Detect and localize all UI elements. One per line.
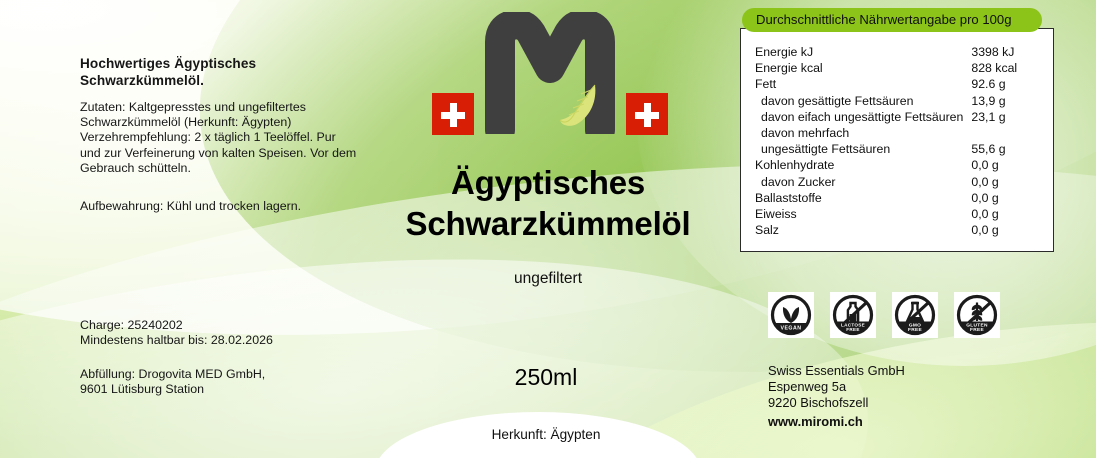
table-row: Kohlenhydrate0,0 g — [755, 158, 1039, 174]
nutrition-header: Durchschnittliche Nährwertangabe pro 100… — [742, 8, 1042, 32]
company-website[interactable]: www.miromi.ch — [768, 414, 1048, 430]
table-row: Energie kcal828 kcal — [755, 61, 1039, 77]
nutrition-value: 0,0 g — [963, 207, 1039, 223]
logo-letter-m-icon — [478, 12, 622, 134]
table-row: davon gesättigte Fettsäuren13,9 g — [755, 94, 1039, 110]
vegan-leaf-icon: VEGAN — [768, 292, 814, 338]
nutrition-value: 0,0 g — [963, 223, 1039, 239]
title-line-1: Ägyptisches — [296, 162, 800, 203]
nutrition-value — [963, 126, 1039, 142]
table-row: Fett92.6 g — [755, 77, 1039, 93]
nutrition-value: 92.6 g — [963, 77, 1039, 93]
nutrition-value: 0,0 g — [963, 175, 1039, 191]
nutrition-table-body: Energie kJ3398 kJ Energie kcal828 kcal F… — [755, 45, 1039, 239]
nutrition-label: davon gesättigte Fettsäuren — [755, 94, 963, 110]
nutrition-label: ungesättigte Fettsäuren — [755, 142, 963, 158]
nutrition-label: davon eifach ungesättigte Fettsäuren — [755, 110, 963, 126]
nutrition-label: Kohlenhydrate — [755, 158, 963, 174]
product-subtitle: ungefiltert — [296, 270, 800, 288]
nutrition-label: Fett — [755, 77, 963, 93]
batch-number: Charge: 25240202 — [80, 318, 370, 333]
product-headline: Hochwertiges Ägyptisches Schwarzkümmelöl… — [80, 55, 358, 89]
company-address-block: Swiss Essentials GmbH Espenweg 5a 9220 B… — [768, 363, 1048, 430]
origin-label: Herkunft: Ägypten — [396, 427, 696, 442]
table-row: Ballaststoffe0,0 g — [755, 191, 1039, 207]
gluten-free-wheat-icon: GLUTEN FREE — [954, 292, 1000, 338]
company-street: Espenweg 5a — [768, 379, 1048, 395]
swiss-flag-icon — [432, 93, 474, 135]
nutrition-value: 23,1 g — [963, 110, 1039, 126]
nutrition-box: Energie kJ3398 kJ Energie kcal828 kcal F… — [740, 28, 1054, 252]
logo-leaf-icon — [557, 82, 599, 128]
badge-vegan: VEGAN — [768, 292, 814, 338]
flag-cross-vertical — [644, 103, 651, 127]
certification-badges: VEGAN LACTOSE FREE GMO — [768, 292, 1000, 338]
nutrition-value: 0,0 g — [963, 158, 1039, 174]
nutrition-label: Ballaststoffe — [755, 191, 963, 207]
nutrition-label: davon mehrfach — [755, 126, 963, 142]
badge-gluten-free: GLUTEN FREE — [954, 292, 1000, 338]
svg-text:FREE: FREE — [908, 327, 922, 333]
filler-company-line2: 9601 Lütisburg Station — [80, 382, 370, 397]
brand-logo — [424, 12, 676, 134]
nutrition-value: 828 kcal — [963, 61, 1039, 77]
svg-text:FREE: FREE — [970, 327, 984, 333]
table-row: Eiweiss0,0 g — [755, 207, 1039, 223]
nutrition-table: Energie kJ3398 kJ Energie kcal828 kcal F… — [755, 45, 1039, 239]
badge-lactose-free: LACTOSE FREE — [830, 292, 876, 338]
svg-text:VEGAN: VEGAN — [781, 326, 802, 332]
table-row: Energie kJ3398 kJ — [755, 45, 1039, 61]
ingredients-text: Zutaten: Kaltgepresstes und ungefilterte… — [80, 100, 358, 130]
nutrition-label: Eiweiss — [755, 207, 963, 223]
nutrition-value: 55,6 g — [963, 142, 1039, 158]
lactose-free-bottle-icon: LACTOSE FREE — [830, 292, 876, 338]
table-row: Salz0,0 g — [755, 223, 1039, 239]
company-city: 9220 Bischofszell — [768, 395, 1048, 411]
badge-gmo-free: GMO FREE — [892, 292, 938, 338]
product-label: Hochwertiges Ägyptisches Schwarzkümmelöl… — [0, 0, 1096, 458]
swiss-flag-icon — [626, 93, 668, 135]
filler-company-line1: Abfüllung: Drogovita MED GmbH, — [80, 367, 370, 382]
nutrition-label: Energie kcal — [755, 61, 963, 77]
best-before-date: Mindestens haltbar bis: 28.02.2026 — [80, 333, 370, 348]
volume-label: 250ml — [396, 364, 696, 391]
nutrition-value: 0,0 g — [963, 191, 1039, 207]
table-row: ungesättigte Fettsäuren55,6 g — [755, 142, 1039, 158]
nutrition-value: 13,9 g — [963, 94, 1039, 110]
nutrition-label: davon Zucker — [755, 175, 963, 191]
flag-cross-vertical — [450, 103, 457, 127]
nutrition-panel: Durchschnittliche Nährwertangabe pro 100… — [740, 8, 1054, 252]
table-row: davon mehrfach — [755, 126, 1039, 142]
title-line-2: Schwarzkümmelöl — [296, 203, 800, 244]
nutrition-label: Salz — [755, 223, 963, 239]
nutrition-label: Energie kJ — [755, 45, 963, 61]
gmo-free-flask-icon: GMO FREE — [892, 292, 938, 338]
page-title: Ägyptisches Schwarzkümmelöl — [296, 162, 800, 244]
batch-info-block: Charge: 25240202 Mindestens haltbar bis:… — [80, 318, 370, 398]
table-row: davon eifach ungesättigte Fettsäuren23,1… — [755, 110, 1039, 126]
table-row: davon Zucker0,0 g — [755, 175, 1039, 191]
nutrition-value: 3398 kJ — [963, 45, 1039, 61]
svg-text:FREE: FREE — [846, 327, 859, 332]
company-name: Swiss Essentials GmbH — [768, 363, 1048, 379]
